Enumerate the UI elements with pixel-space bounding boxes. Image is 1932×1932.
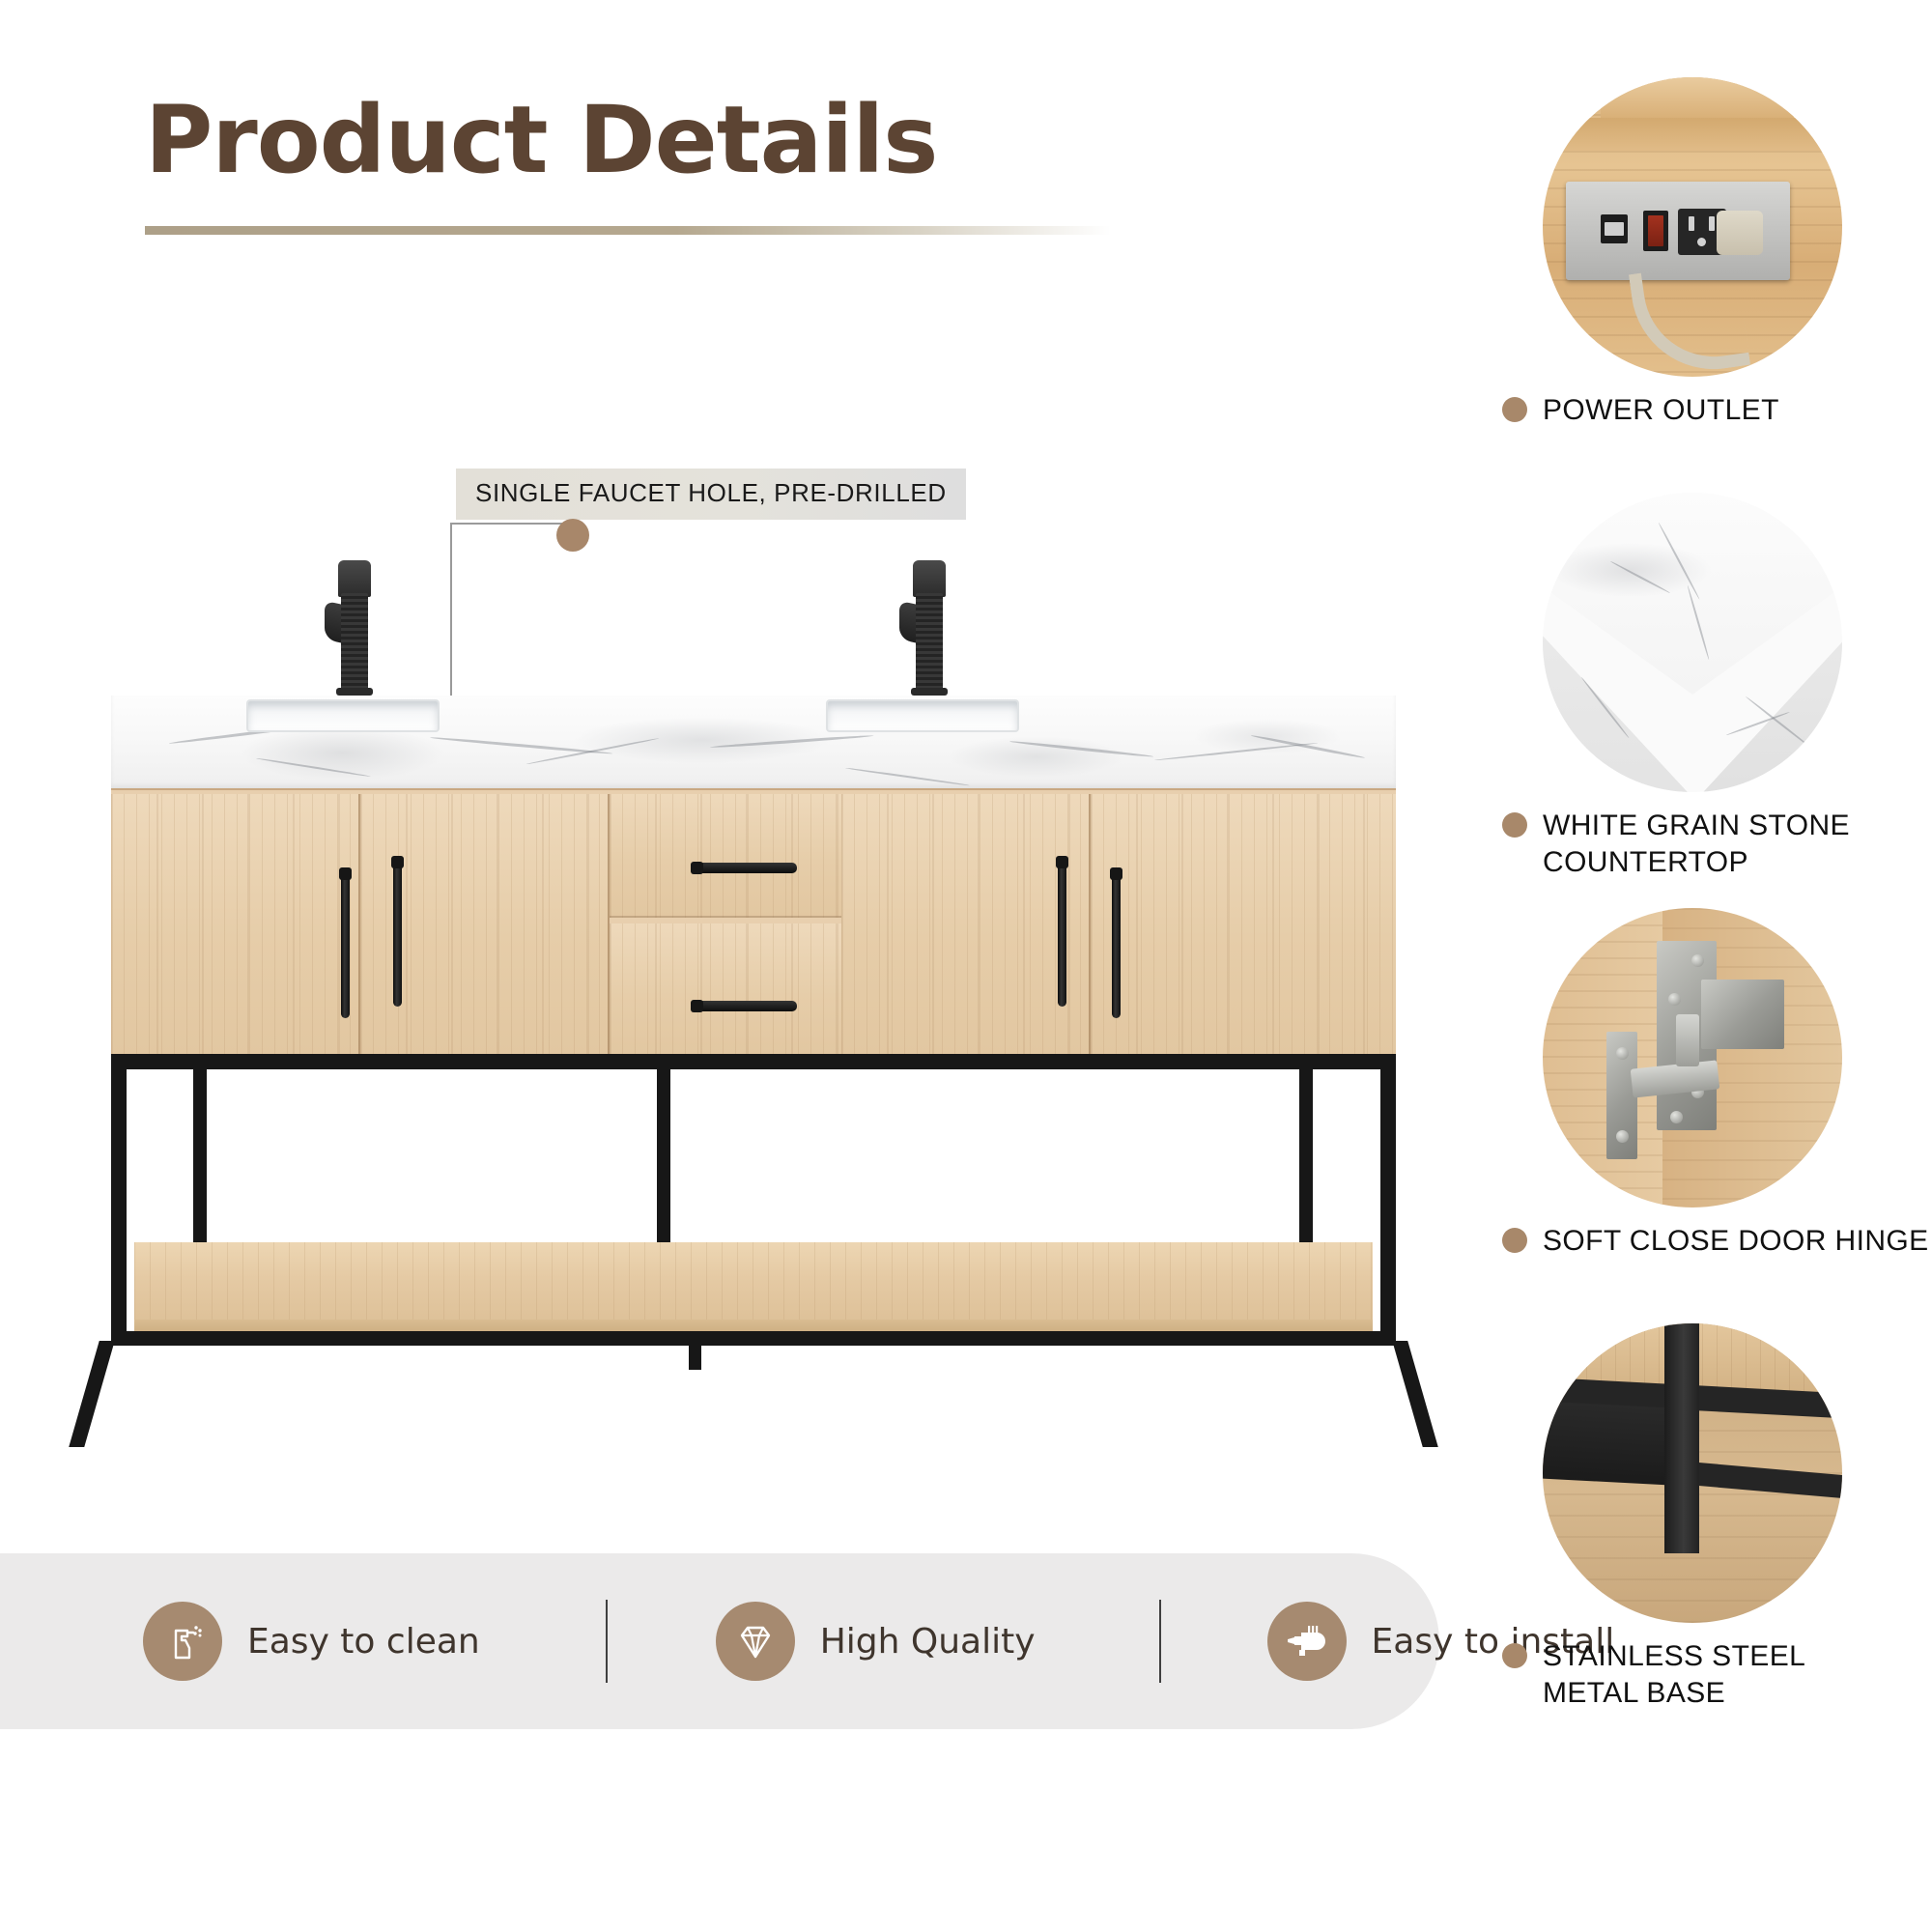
outlet-faceplate	[1566, 182, 1790, 280]
diamond-icon	[716, 1602, 795, 1681]
hinge-screw	[1691, 954, 1704, 967]
power-outlet-photo	[1543, 77, 1842, 377]
detail-label-countertop: WHITE GRAIN STONE COUNTERTOP	[1502, 808, 1932, 882]
detail-label-text: STAINLESS STEEL METAL BASE	[1543, 1638, 1805, 1713]
detail-item-hinge: SOFT CLOSE DOOR HINGE	[1492, 908, 1932, 1260]
detail-label-text: SOFT CLOSE DOOR HINGE	[1543, 1223, 1929, 1260]
door-handle-1[interactable]	[341, 873, 350, 1018]
metal-base-leg	[1664, 1323, 1699, 1553]
drawer-handle-bottom[interactable]	[695, 1001, 797, 1011]
rocker-switch	[1643, 211, 1668, 251]
detail-label-line2: COUNTERTOP	[1543, 846, 1748, 878]
cabinet-door-1[interactable]	[111, 794, 360, 1054]
faucet-body	[916, 593, 943, 690]
base-frame-center-post	[657, 1054, 670, 1247]
base-frame-leg-right	[1380, 1054, 1396, 1344]
feature-divider-2	[1159, 1600, 1161, 1683]
sink-basin-left	[246, 699, 440, 732]
marble-vein	[1009, 740, 1153, 758]
base-frame-inner-post-right	[1299, 1054, 1313, 1247]
bullet-dot-icon	[1502, 1228, 1527, 1253]
stone-countertop	[111, 696, 1396, 788]
door-handle-3[interactable]	[1058, 862, 1066, 1007]
hinge-screw	[1670, 1111, 1683, 1123]
product-image	[111, 580, 1396, 1343]
faucet-base-plate	[336, 688, 373, 696]
base-frame-inner-post-left	[193, 1054, 207, 1247]
wood-panel-rail	[1543, 118, 1842, 151]
cabinet-drawer-top[interactable]	[610, 794, 841, 918]
door-handle-4[interactable]	[1112, 873, 1121, 1018]
detail-label-line1: STAINLESS STEEL	[1543, 1640, 1805, 1672]
feature-divider-1	[606, 1600, 608, 1683]
detail-item-metal-base: STAINLESS STEEL METAL BASE	[1492, 1323, 1932, 1713]
feature-high-quality: High Quality	[716, 1602, 1036, 1681]
base-frame-leg-left	[111, 1054, 127, 1344]
detail-label-line1: WHITE GRAIN STONE	[1543, 810, 1850, 841]
detail-item-countertop: WHITE GRAIN STONE COUNTERTOP	[1492, 493, 1932, 882]
feature-label: High Quality	[820, 1622, 1036, 1662]
marble-vein	[526, 737, 660, 765]
detail-label-text: POWER OUTLET	[1543, 392, 1779, 429]
drawer-handle-bottom-cap	[691, 1000, 703, 1012]
hinge-screw	[1616, 1130, 1629, 1143]
usb-port-icon	[1601, 214, 1628, 243]
spray-bottle-icon	[143, 1602, 222, 1681]
title-underline-rule	[145, 226, 1111, 235]
base-frame-top-rail	[111, 1054, 1396, 1069]
detail-item-power-outlet: POWER OUTLET	[1492, 77, 1932, 429]
bullet-dot-icon	[1502, 397, 1527, 422]
socket-slot	[1697, 238, 1706, 246]
cabinet-door-4[interactable]	[1091, 794, 1396, 1054]
detail-label-metal-base: STAINLESS STEEL METAL BASE	[1502, 1638, 1932, 1713]
feature-label: Easy to clean	[247, 1622, 480, 1662]
drill-icon	[1267, 1602, 1347, 1681]
faucet-body	[341, 593, 368, 690]
header: Product Details	[145, 92, 1207, 235]
door-handle-2-cap	[391, 856, 404, 868]
faucet-right	[913, 560, 946, 697]
detail-label-text: WHITE GRAIN STONE COUNTERTOP	[1543, 808, 1850, 882]
hinge-screw	[1616, 1047, 1629, 1060]
marble-vein	[845, 767, 970, 786]
drawer-handle-top[interactable]	[695, 863, 797, 873]
hinge-door-panel	[1543, 908, 1662, 1207]
door-handle-1-cap	[339, 867, 352, 880]
callout-anchor-dot-top	[556, 519, 589, 552]
detail-label-line2: METAL BASE	[1543, 1677, 1725, 1709]
faucet-base-plate	[911, 688, 948, 696]
bullet-dot-icon	[1502, 812, 1527, 838]
base-leg-splay-left	[69, 1341, 115, 1447]
socket-slot	[1709, 216, 1715, 231]
frame-panel-left	[1543, 1402, 1668, 1486]
faucet-spout	[338, 560, 371, 597]
door-handle-2[interactable]	[393, 862, 402, 1007]
hinge-cup-body	[1701, 980, 1784, 1049]
base-leg-splay-right	[1392, 1341, 1438, 1447]
cabinet-door-3[interactable]	[841, 794, 1091, 1054]
hinge-screw	[1668, 993, 1681, 1006]
base-leg-center-foot	[689, 1341, 701, 1370]
socket-slot	[1689, 216, 1694, 231]
open-wood-shelf	[134, 1242, 1373, 1331]
faucet-left	[338, 560, 371, 697]
cabinet-body	[111, 788, 1396, 1054]
faucet-spout	[913, 560, 946, 597]
stone-top-face	[1543, 493, 1842, 695]
stone-countertop-photo	[1543, 493, 1842, 792]
power-plug	[1717, 211, 1763, 255]
detail-label-hinge: SOFT CLOSE DOOR HINGE	[1502, 1223, 1932, 1260]
feature-bar: Easy to clean High Quality Easy to insta…	[0, 1553, 1439, 1729]
door-handle-3-cap	[1056, 856, 1068, 868]
page-title: Product Details	[145, 92, 1207, 189]
marble-vein	[710, 734, 874, 749]
countertop-slab	[111, 696, 1396, 788]
bullet-dot-icon	[1502, 1643, 1527, 1668]
sink-basin-right	[826, 699, 1019, 732]
detail-label-power-outlet: POWER OUTLET	[1502, 392, 1932, 429]
door-hinge-photo	[1543, 908, 1842, 1207]
base-frame-bottom-rail	[111, 1331, 1396, 1346]
wood-panel-upper	[1601, 77, 1794, 118]
feature-easy-to-clean: Easy to clean	[143, 1602, 480, 1681]
metal-base-photo	[1543, 1323, 1842, 1623]
cabinet-drawer-bottom[interactable]	[610, 923, 841, 1054]
marble-vein	[256, 757, 371, 778]
hinge-arm-pivot	[1676, 1014, 1699, 1066]
door-handle-4-cap	[1110, 867, 1122, 880]
drawer-handle-top-cap	[691, 862, 703, 874]
